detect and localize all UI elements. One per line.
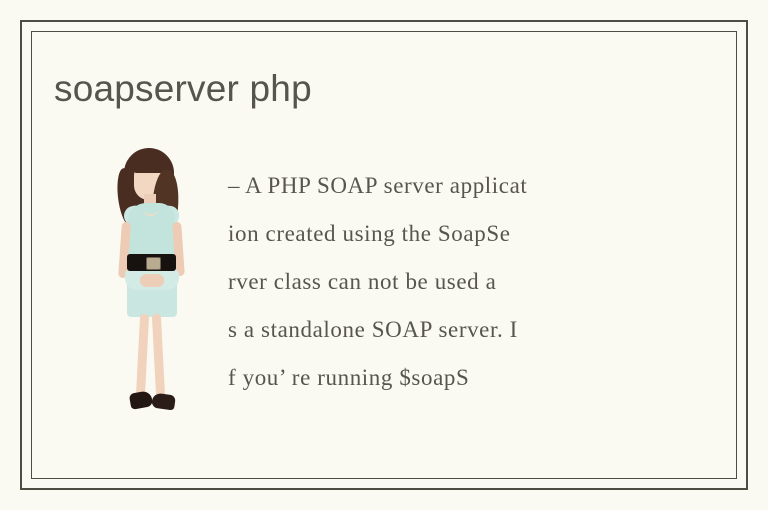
woman-in-mint-dress-photo	[96, 146, 208, 416]
leg-right	[152, 314, 165, 398]
hands	[140, 274, 164, 287]
belt-buckle	[146, 257, 161, 270]
body-line: s a standalone SOAP server. I	[228, 306, 648, 354]
page-title: soapserver php	[54, 68, 312, 110]
leg-left	[136, 314, 149, 398]
shoe-right	[151, 392, 176, 410]
slide-canvas: soapserver php – A PHP SOAP server appli…	[0, 0, 768, 510]
body-line: f you’ re running $soapS	[228, 354, 648, 402]
body-line: – A PHP SOAP server applicat	[228, 162, 648, 210]
body-line: ion created using the SoapSe	[228, 210, 648, 258]
body-line: rver class can not be used a	[228, 258, 648, 306]
body-text-block: – A PHP SOAP server applicat ion created…	[228, 162, 648, 402]
shoe-left	[129, 390, 153, 410]
